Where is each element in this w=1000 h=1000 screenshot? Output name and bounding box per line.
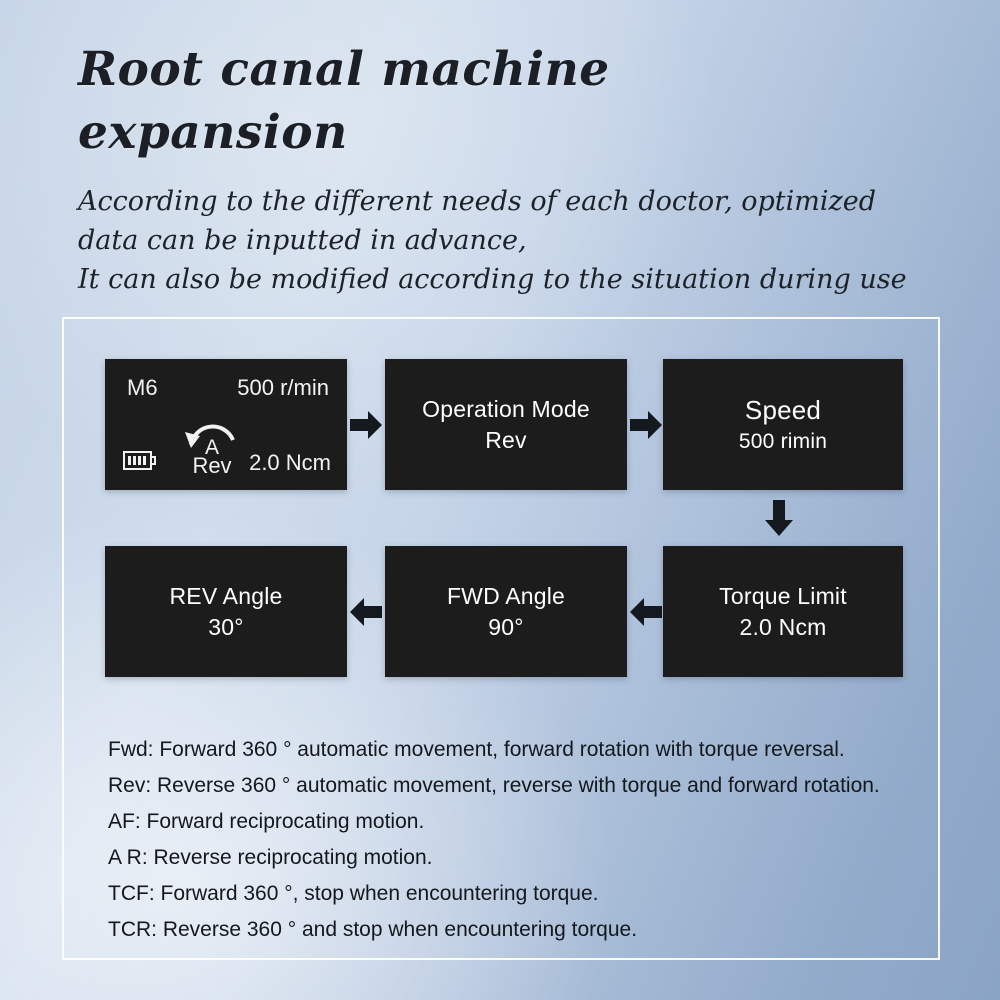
- page-subtitle: According to the different needs of each…: [78, 182, 973, 299]
- step-label: Operation Mode: [422, 394, 590, 425]
- step-operation-mode: Operation Mode Rev: [385, 359, 627, 490]
- device-lcd-screen: M6 500 r/min: [105, 359, 347, 490]
- step-label: Speed: [745, 393, 821, 427]
- legend-item: TCR: Reverse 360 ° and stop when encount…: [108, 912, 928, 948]
- step-value: Rev: [485, 425, 527, 456]
- arrow-right-icon: [630, 408, 662, 442]
- lcd-inner: M6 500 r/min: [105, 359, 347, 490]
- legend-list: Fwd: Forward 360 ° automatic movement, f…: [108, 732, 928, 948]
- legend-item: Fwd: Forward 360 ° automatic movement, f…: [108, 732, 928, 768]
- legend-item: A R: Reverse reciprocating motion.: [108, 840, 928, 876]
- slide-root: Root canal machine expansion According t…: [0, 0, 1000, 1000]
- step-value: 90°: [488, 612, 523, 643]
- arrow-left-icon: [350, 595, 382, 629]
- step-label: FWD Angle: [447, 581, 565, 612]
- lcd-rotation-label: Rev: [179, 454, 245, 478]
- lcd-speed-value: 500 r/min: [237, 375, 329, 401]
- step-fwd-angle: FWD Angle 90°: [385, 546, 627, 677]
- battery-icon: [123, 451, 157, 470]
- step-value: 30°: [208, 612, 243, 643]
- lcd-rotation-indicator: A Rev: [179, 418, 245, 480]
- legend-item: Rev: Reverse 360 ° automatic movement, r…: [108, 768, 928, 804]
- step-value: 500 rimin: [739, 427, 827, 457]
- step-value: 2.0 Ncm: [739, 612, 826, 643]
- page-title: Root canal machine expansion: [78, 38, 958, 164]
- step-rev-angle: REV Angle 30°: [105, 546, 347, 677]
- step-label: Torque Limit: [719, 581, 847, 612]
- legend-item: TCF: Forward 360 °, stop when encounteri…: [108, 876, 928, 912]
- legend-item: AF: Forward reciprocating motion.: [108, 804, 928, 840]
- step-label: REV Angle: [169, 581, 282, 612]
- step-speed: Speed 500 rimin: [663, 359, 903, 490]
- lcd-mode-label: M6: [127, 375, 158, 401]
- arrow-left-icon: [630, 595, 662, 629]
- arrow-down-icon: [762, 500, 796, 537]
- step-torque-limit: Torque Limit 2.0 Ncm: [663, 546, 903, 677]
- lcd-torque-value: 2.0 Ncm: [249, 450, 331, 476]
- arrow-right-icon: [350, 408, 382, 442]
